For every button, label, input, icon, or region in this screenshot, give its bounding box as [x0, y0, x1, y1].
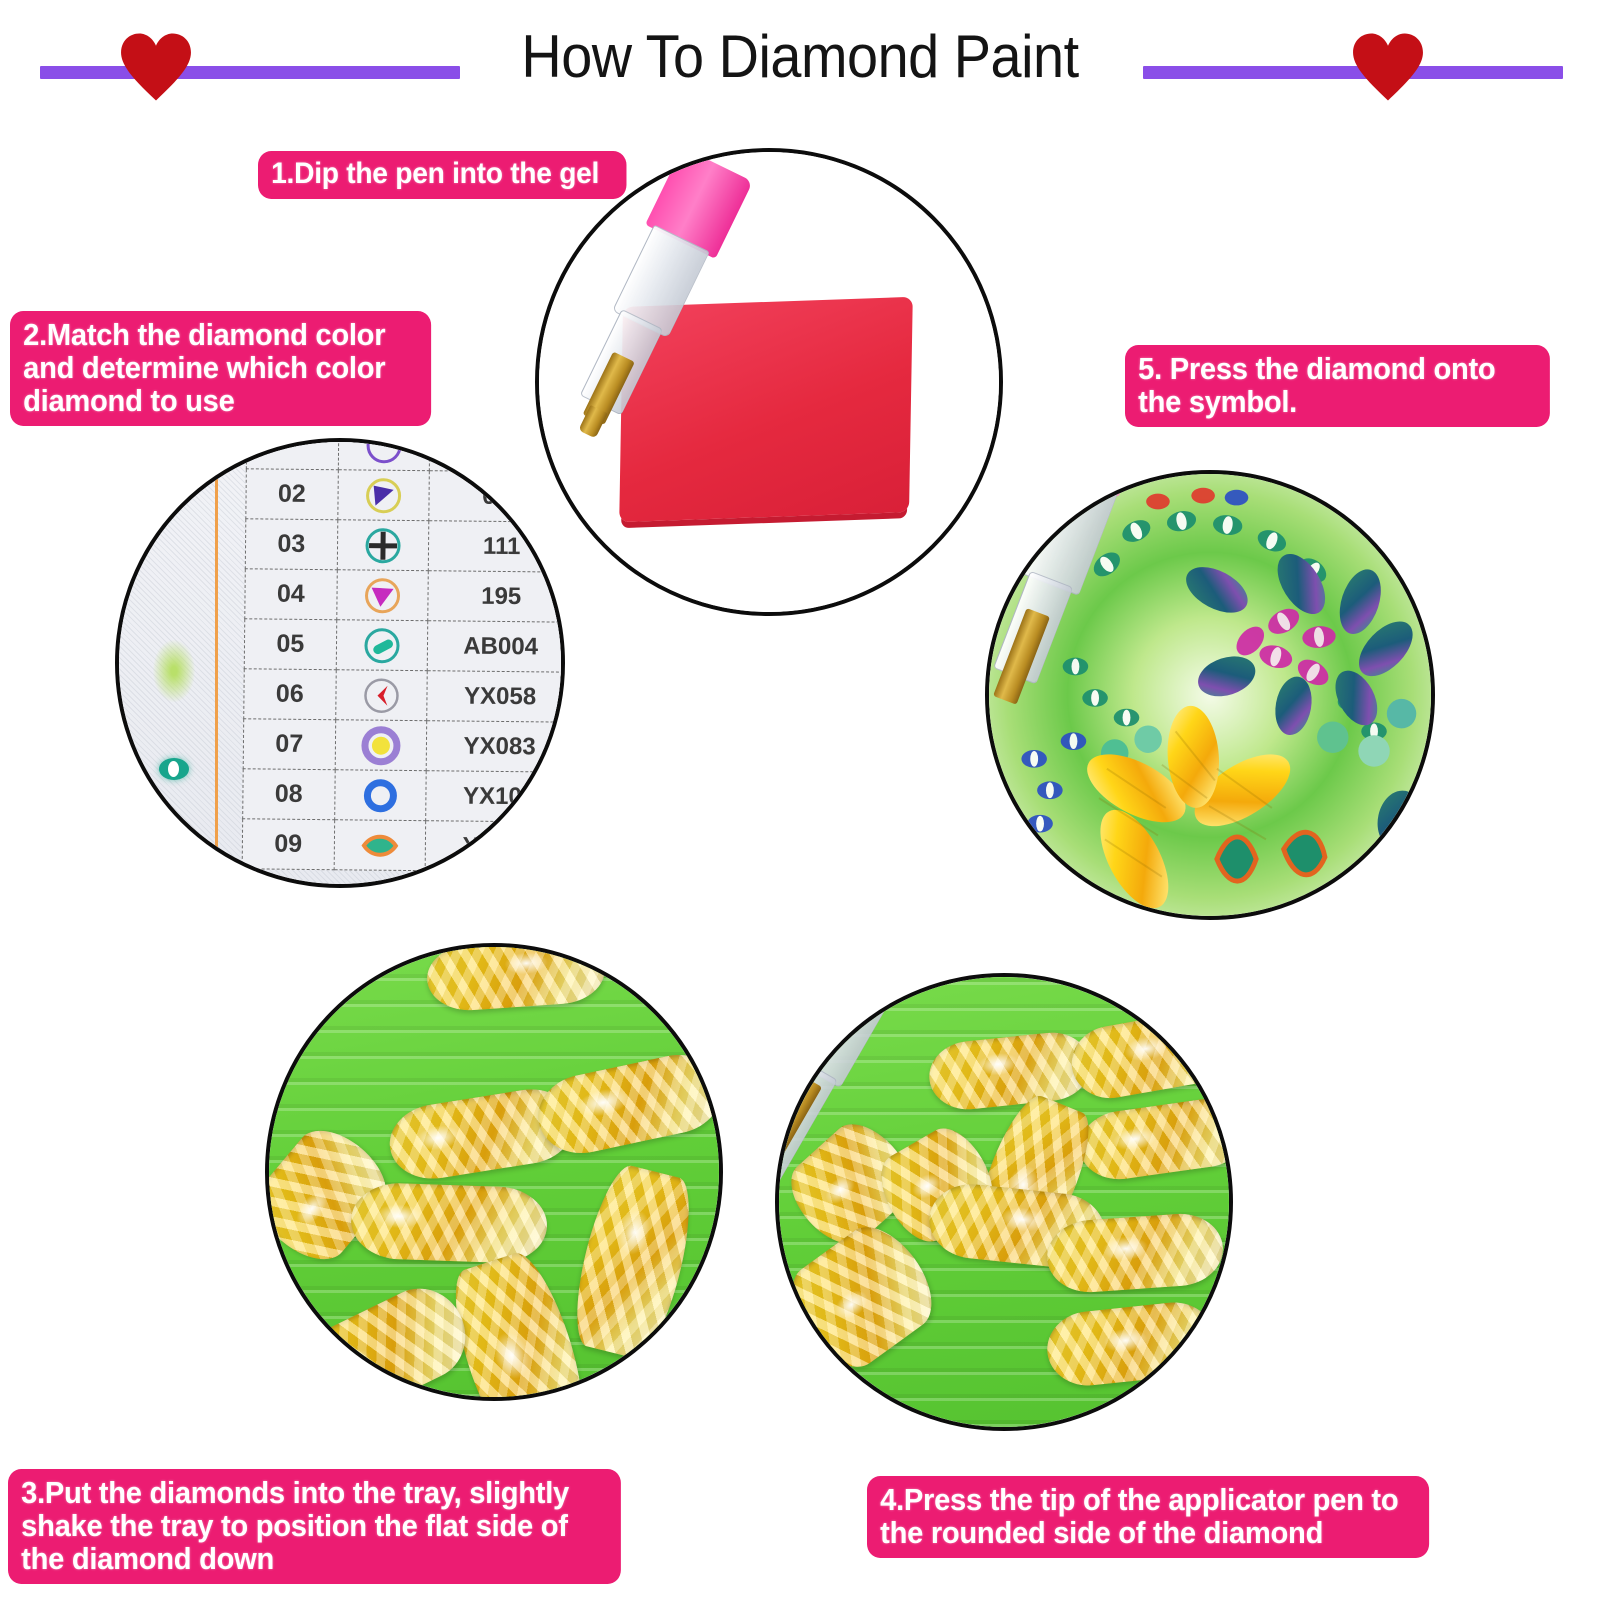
infographic-page: How To Diamond Paint 1.Dip the pen into …	[0, 0, 1600, 1600]
pen-picking-up-diamond-photo	[775, 973, 1233, 1431]
canvas-teal-gem	[159, 758, 189, 780]
chart-code: YX058	[427, 671, 565, 723]
triangle-icon	[362, 575, 402, 615]
table-row: 05 AB004	[244, 619, 565, 672]
chart-index: 09	[242, 819, 334, 870]
chart-index: 07	[243, 719, 335, 770]
diamond-pressed-onto-canvas-photo	[985, 470, 1435, 920]
table-row: 04 195	[245, 569, 565, 622]
page-title: How To Diamond Paint	[56, 22, 1544, 91]
pen-dipping-into-gel-photo	[535, 148, 1003, 616]
chart-code: YX083	[427, 721, 565, 773]
chart-code: 195	[428, 571, 565, 623]
chart-index: 02	[246, 469, 338, 520]
table-row: 09 YX125	[242, 819, 565, 872]
step-3-label: 3.Put the diamonds into the tray, slight…	[8, 1469, 621, 1584]
step-5-label: 5. Press the diamond onto the symbol.	[1125, 345, 1550, 427]
dots-in-circle-icon	[364, 438, 404, 465]
ring-icon	[360, 775, 400, 815]
step-2-label: 2.Match the diamond color and determine …	[10, 311, 431, 426]
table-row: 03 111	[245, 519, 565, 572]
plus-icon	[363, 525, 403, 565]
chart-index: 06	[244, 669, 336, 720]
chevron-left-icon	[361, 675, 401, 715]
chart-code: YX125	[426, 821, 565, 873]
chart-index: 04	[245, 569, 337, 620]
diamonds-in-tray-photo	[265, 943, 723, 1401]
triangle-icon	[363, 475, 403, 515]
chart-orange-rule-left	[215, 442, 218, 884]
capsule-icon	[362, 625, 402, 665]
table-row: 06 YX058	[244, 669, 565, 722]
diamond-color-chart-table: 026 02 093 03	[242, 438, 565, 873]
diamond-color-chart-photo: 026 02 093 03	[115, 438, 565, 888]
canvas-green-smudge	[153, 640, 195, 702]
chart-index: 08	[243, 769, 335, 820]
chart-code: 111	[429, 521, 565, 573]
chart-code: YX106	[426, 771, 565, 823]
table-row: 08 YX106	[243, 769, 565, 822]
step-4-label: 4.Press the tip of the applicator pen to…	[867, 1476, 1429, 1558]
chart-rows: 026 02 093 03	[242, 438, 565, 872]
table-row: 02 093	[246, 469, 565, 522]
chart-code: AB004	[428, 621, 565, 673]
table-row: 026	[246, 438, 565, 472]
filled-dot-icon	[361, 725, 401, 765]
chart-code: 093	[429, 471, 565, 523]
diamond-gem	[350, 1182, 549, 1265]
chart-index: 03	[245, 519, 337, 570]
chart-index: 05	[244, 619, 336, 670]
chart-code: 026	[430, 438, 565, 472]
table-row: 07 YX083	[243, 719, 565, 772]
leaf-icon	[360, 825, 400, 865]
